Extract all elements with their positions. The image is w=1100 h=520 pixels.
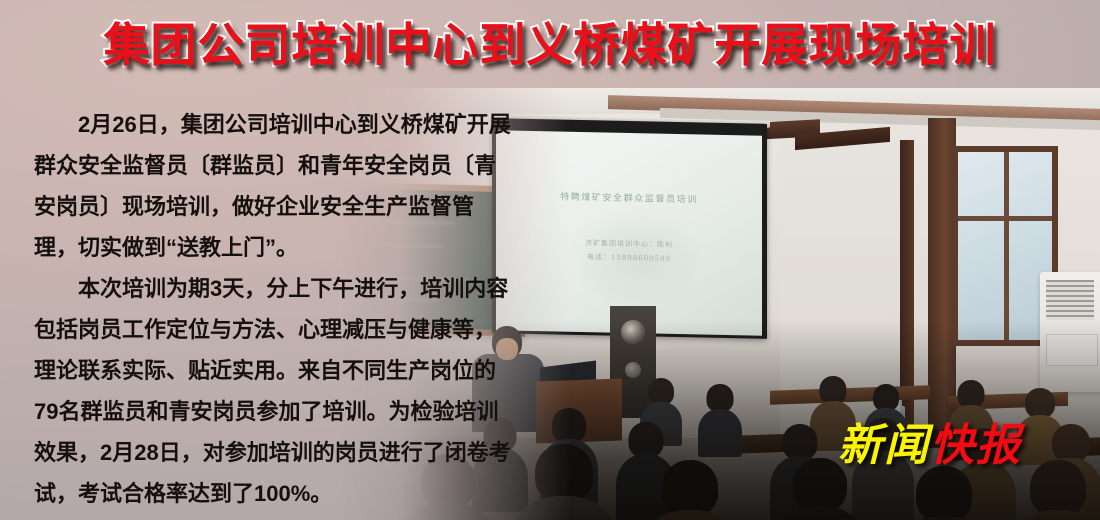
article-paragraph-2-text: 本次培训为期3天，分上下午进行，培训内容包括岗员工作定位与方法、心理减压与健康等… [34, 276, 511, 506]
attendee-head [1030, 460, 1086, 516]
attendee [892, 466, 996, 520]
attendee-head [662, 460, 718, 516]
attendee [640, 460, 740, 520]
watermark-yellow-text: 新闻 [838, 421, 930, 470]
article-paragraph-1-text: 2月26日，集团公司培训中心到义桥煤矿开展群众安全监督员〔群监员〕和青年安全岗员… [34, 112, 511, 260]
page-title: 集团公司培训中心到义桥煤矿开展现场培训 [0, 22, 1100, 68]
article-paragraph-2: 本次培训为期3天，分上下午进行，培训内容包括岗员工作定位与方法、心理减压与健康等… [34, 268, 516, 514]
speaker-tweeter [625, 362, 641, 378]
attendee-head [820, 376, 847, 404]
air-conditioner-grille [1046, 280, 1094, 320]
watermark-red-text: 快报 [930, 421, 1022, 470]
attendee-body [892, 516, 996, 520]
attendee-head [535, 444, 593, 502]
attendee-body [510, 496, 618, 520]
window-mullion-horizontal [958, 216, 1052, 221]
attendee-body [640, 510, 740, 520]
attendee-head [873, 384, 899, 411]
attendee-head [916, 466, 972, 520]
attendee-head [552, 408, 586, 443]
attendee-head [958, 380, 985, 408]
attendee-head [1052, 424, 1090, 462]
attendee-head [1025, 388, 1055, 418]
projector-screen: 特聘煤矿安全群众监督员培训 济矿集团培训中心：陈利 电话：15898600500 [496, 130, 762, 336]
attendee-head [707, 384, 734, 412]
air-conditioner [1040, 272, 1100, 392]
article-body: 2月26日，集团公司培训中心到义桥煤矿开展群众安全监督员〔群监员〕和青年安全岗员… [34, 104, 516, 514]
attendee [510, 444, 618, 520]
attendee-head [783, 424, 818, 460]
attendee-body [698, 409, 742, 457]
window-mullion-vertical [1004, 152, 1009, 340]
attendee-body [1008, 510, 1100, 520]
article-paragraph-1: 2月26日，集团公司培训中心到义桥煤矿开展群众安全监督员〔群监员〕和青年安全岗员… [34, 104, 516, 268]
attendee-body [772, 506, 868, 520]
air-conditioner-panel [1046, 334, 1098, 366]
speaker-woofer [621, 320, 645, 344]
news-watermark: 新闻快报 [838, 424, 1022, 468]
attendee [698, 384, 742, 454]
attendee-head [629, 422, 664, 458]
news-banner: 特聘煤矿安全群众监督员培训 济矿集团培训中心：陈利 电话：15898600500 [0, 0, 1100, 520]
attendee-head [648, 378, 674, 405]
